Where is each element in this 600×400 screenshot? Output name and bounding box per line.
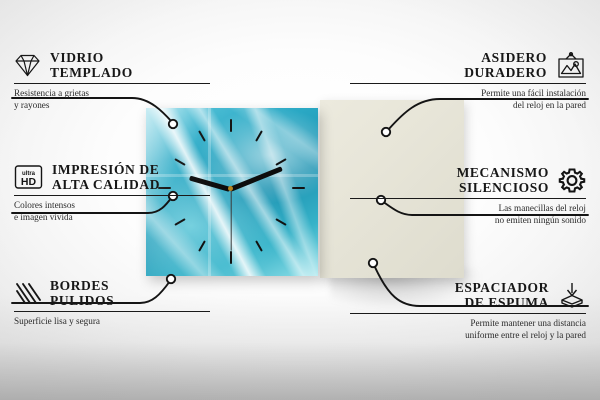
- feature-heading: BORDES PULIDOS: [14, 278, 250, 308]
- feature-mecanismo-silencioso: MECANISMO SILENCIOSO Las manecillas del …: [350, 165, 586, 226]
- foam-spacer-arrow-icon: [558, 282, 586, 309]
- feature-title: ESPACIADOR DE ESPUMA: [455, 280, 549, 310]
- feature-title: BORDES PULIDOS: [50, 278, 114, 308]
- feature-bordes-pulidos: BORDES PULIDOS Superficie lisa y segura: [14, 278, 250, 328]
- feature-description: Permite una fácil instalación del reloj …: [350, 88, 586, 111]
- svg-text:HD: HD: [21, 176, 37, 188]
- feature-impresion-alta-calidad: ultra HD IMPRESIÓN DE ALTA CALIDAD Color…: [14, 162, 250, 223]
- feature-heading: ESPACIADOR DE ESPUMA: [350, 280, 586, 310]
- feature-espaciador-de-espuma: ESPACIADOR DE ESPUMA Permite mantener un…: [350, 280, 586, 341]
- feature-heading: VIDRIO TEMPLADO: [14, 50, 250, 80]
- feature-title: IMPRESIÓN DE ALTA CALIDAD: [52, 162, 160, 192]
- feature-divider: [14, 195, 210, 196]
- feature-description: Superficie lisa y segura: [14, 316, 250, 327]
- feature-heading: ASIDERO DURADERO: [350, 50, 586, 80]
- feature-description: Permite mantener una distancia uniforme …: [350, 318, 586, 341]
- feature-divider: [14, 83, 210, 84]
- gear-icon: [558, 167, 586, 194]
- feature-divider: [350, 83, 586, 84]
- product-infographic: VIDRIO TEMPLADO Resistencia a grietas y …: [0, 0, 600, 400]
- feature-description: Colores intensos e imagen vívida: [14, 200, 250, 223]
- feature-title: ASIDERO DURADERO: [464, 50, 547, 80]
- feature-divider: [14, 311, 210, 312]
- ultra-hd-icon: ultra HD: [14, 164, 43, 190]
- polished-edges-icon: [14, 281, 41, 306]
- feature-vidrio-templado: VIDRIO TEMPLADO Resistencia a grietas y …: [14, 50, 250, 111]
- feature-divider: [350, 313, 586, 314]
- feature-description: Resistencia a grietas y rayones: [14, 88, 250, 111]
- feature-title: VIDRIO TEMPLADO: [50, 50, 133, 80]
- feature-divider: [350, 198, 586, 199]
- feature-asidero-duradero: ASIDERO DURADERO Permite una fácil insta…: [350, 50, 586, 111]
- feature-heading: MECANISMO SILENCIOSO: [350, 165, 586, 195]
- diamond-icon: [14, 53, 41, 78]
- framed-picture-hook-icon: [556, 52, 586, 79]
- feature-heading: ultra HD IMPRESIÓN DE ALTA CALIDAD: [14, 162, 250, 192]
- feature-description: Las manecillas del reloj no emiten ningú…: [350, 203, 586, 226]
- feature-title: MECANISMO SILENCIOSO: [457, 165, 549, 195]
